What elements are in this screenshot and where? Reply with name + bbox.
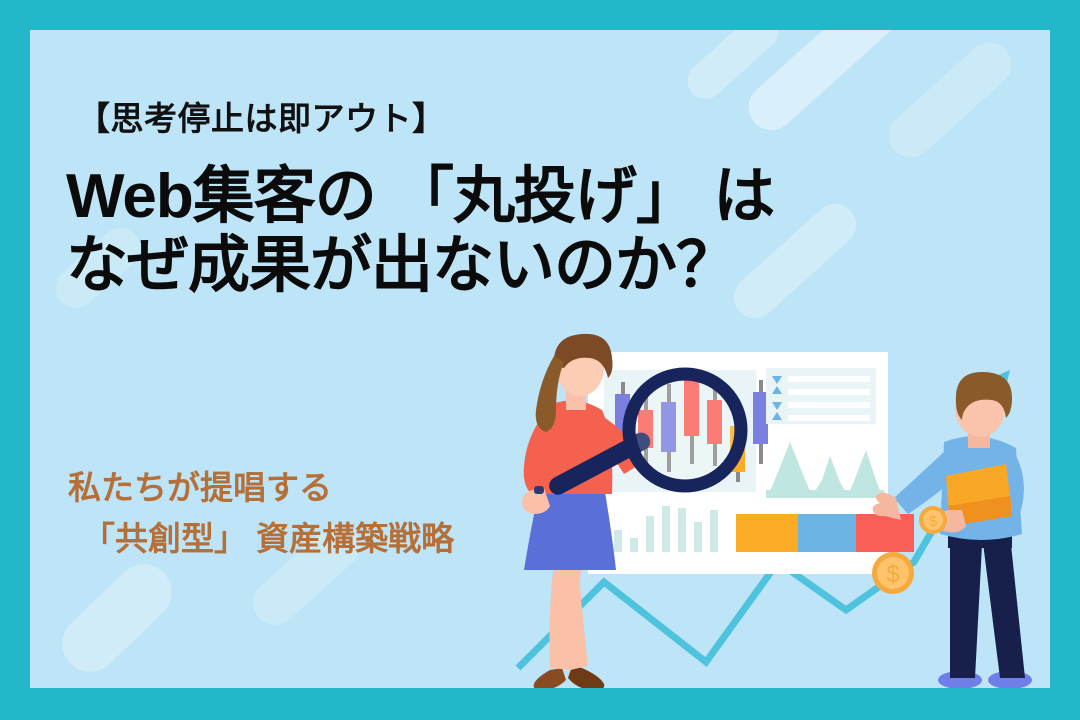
- decor-capsule-3: [880, 33, 1021, 166]
- slide-root: $ $: [0, 0, 1080, 720]
- subtitle-line-1: 私たちが提唱する: [68, 469, 332, 506]
- stacked-bar: [736, 514, 914, 552]
- svg-text:$: $: [929, 513, 938, 530]
- list-panel: [766, 368, 876, 424]
- content-panel: $ $: [30, 30, 1050, 688]
- business-analytics-illustration: $ $: [510, 330, 1050, 688]
- subtitle-text: 私たちが提唱する 「共創型」 資産構築戦略: [68, 462, 454, 564]
- subtitle-line-2: 「共創型」 資産構築戦略: [68, 513, 454, 564]
- coin-large: $: [872, 552, 914, 594]
- eyebrow-text: 【思考停止は即アウト】: [77, 92, 446, 140]
- page-title: Web集客の 「丸投げ」 は なぜ成果が出ないのか？: [66, 162, 774, 301]
- headline-line-1: Web集客の 「丸投げ」 は: [66, 162, 774, 231]
- headline-line-2: なぜ成果が出ないのか？: [66, 231, 774, 300]
- decor-capsule-6: [51, 553, 183, 684]
- coin-small: $: [919, 506, 947, 534]
- svg-text:$: $: [886, 561, 899, 588]
